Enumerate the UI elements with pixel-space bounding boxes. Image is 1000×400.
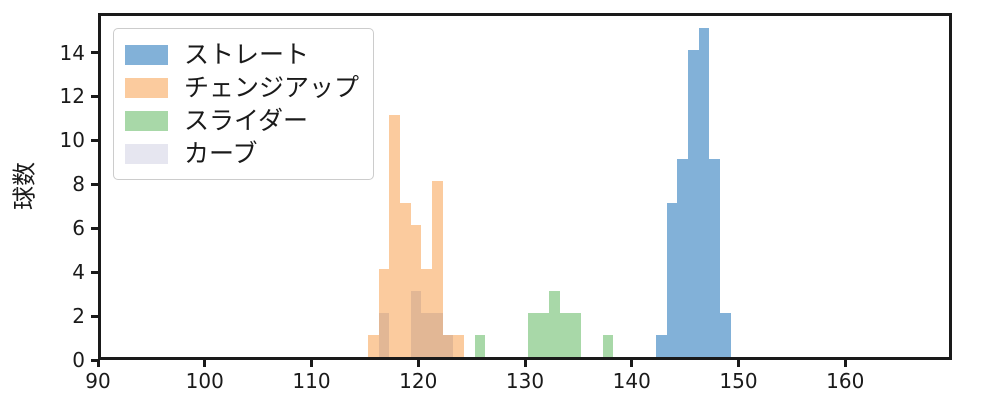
histogram-bar <box>549 291 560 357</box>
y-axis-tick-label: 4 <box>72 260 85 284</box>
x-axis-tick-label: 160 <box>826 369 864 393</box>
legend-item-label: カーブ <box>184 141 258 166</box>
histogram-bar <box>421 313 432 357</box>
x-axis-tick-label: 120 <box>399 369 437 393</box>
y-axis-tick <box>91 95 98 98</box>
legend-item: カーブ <box>125 137 359 170</box>
y-axis-tick-label: 6 <box>72 216 85 240</box>
y-axis-tick-label: 10 <box>60 128 85 152</box>
y-axis-tick-label: 14 <box>60 41 85 65</box>
y-axis-tick-label: 12 <box>60 84 85 108</box>
histogram-bar <box>453 335 464 357</box>
histogram-bar <box>400 203 411 357</box>
histogram-bar <box>656 335 667 357</box>
histogram-bar <box>603 335 614 357</box>
y-axis-tick <box>91 51 98 54</box>
histogram-bar <box>720 313 731 357</box>
x-axis-tick-label: 130 <box>506 369 544 393</box>
x-axis-tick-label: 140 <box>613 369 651 393</box>
histogram-bar <box>699 28 710 357</box>
x-axis-tick <box>524 360 527 367</box>
x-axis-tick-label: 150 <box>719 369 757 393</box>
legend-item-label: ストレート <box>184 42 309 67</box>
x-axis-tick-label: 110 <box>292 369 330 393</box>
histogram-bar <box>432 313 443 357</box>
x-axis-tick <box>97 360 100 367</box>
histogram-bar <box>667 203 678 357</box>
histogram-bar <box>528 313 539 357</box>
y-axis-tick <box>91 315 98 318</box>
legend-item-label: チェンジアップ <box>184 75 359 100</box>
x-axis-tick <box>737 360 740 367</box>
histogram-bar <box>571 313 582 357</box>
x-axis-tick <box>417 360 420 367</box>
y-axis-label: 球数 <box>5 162 40 210</box>
y-axis-tick-label: 8 <box>72 172 85 196</box>
y-axis-tick <box>91 139 98 142</box>
histogram-bar <box>379 313 390 357</box>
histogram-bar <box>709 159 720 357</box>
legend-item: スライダー <box>125 104 359 137</box>
histogram-bar <box>443 335 454 357</box>
histogram-bar <box>368 335 379 357</box>
histogram-figure: 球数 02468101214 90100110120130140150160 ス… <box>0 0 1000 400</box>
y-axis-tick <box>91 271 98 274</box>
histogram-bar <box>475 335 486 357</box>
histogram-bar <box>389 115 400 357</box>
histogram-bar <box>560 313 571 357</box>
x-axis-tick-label: 100 <box>186 369 224 393</box>
legend-item-label: スライダー <box>184 108 308 133</box>
histogram-bar <box>688 50 699 357</box>
x-axis-tick <box>844 360 847 367</box>
x-axis-tick <box>203 360 206 367</box>
legend-swatch-icon <box>125 144 168 164</box>
y-axis-tick <box>91 183 98 186</box>
histogram-bar <box>677 159 688 357</box>
legend-swatch-icon <box>125 45 168 65</box>
legend-item: チェンジアップ <box>125 71 359 104</box>
y-axis-tick-label: 0 <box>72 348 85 372</box>
y-axis-tick <box>91 227 98 230</box>
x-axis-tick-label: 90 <box>85 369 110 393</box>
x-axis-tick <box>630 360 633 367</box>
histogram-bar <box>411 291 422 357</box>
y-axis-tick-label: 2 <box>72 304 85 328</box>
legend-swatch-icon <box>125 111 168 131</box>
legend: ストレートチェンジアップスライダーカーブ <box>113 28 374 180</box>
x-axis-tick <box>310 360 313 367</box>
histogram-bar <box>539 313 550 357</box>
legend-item: ストレート <box>125 38 359 71</box>
legend-swatch-icon <box>125 78 168 98</box>
